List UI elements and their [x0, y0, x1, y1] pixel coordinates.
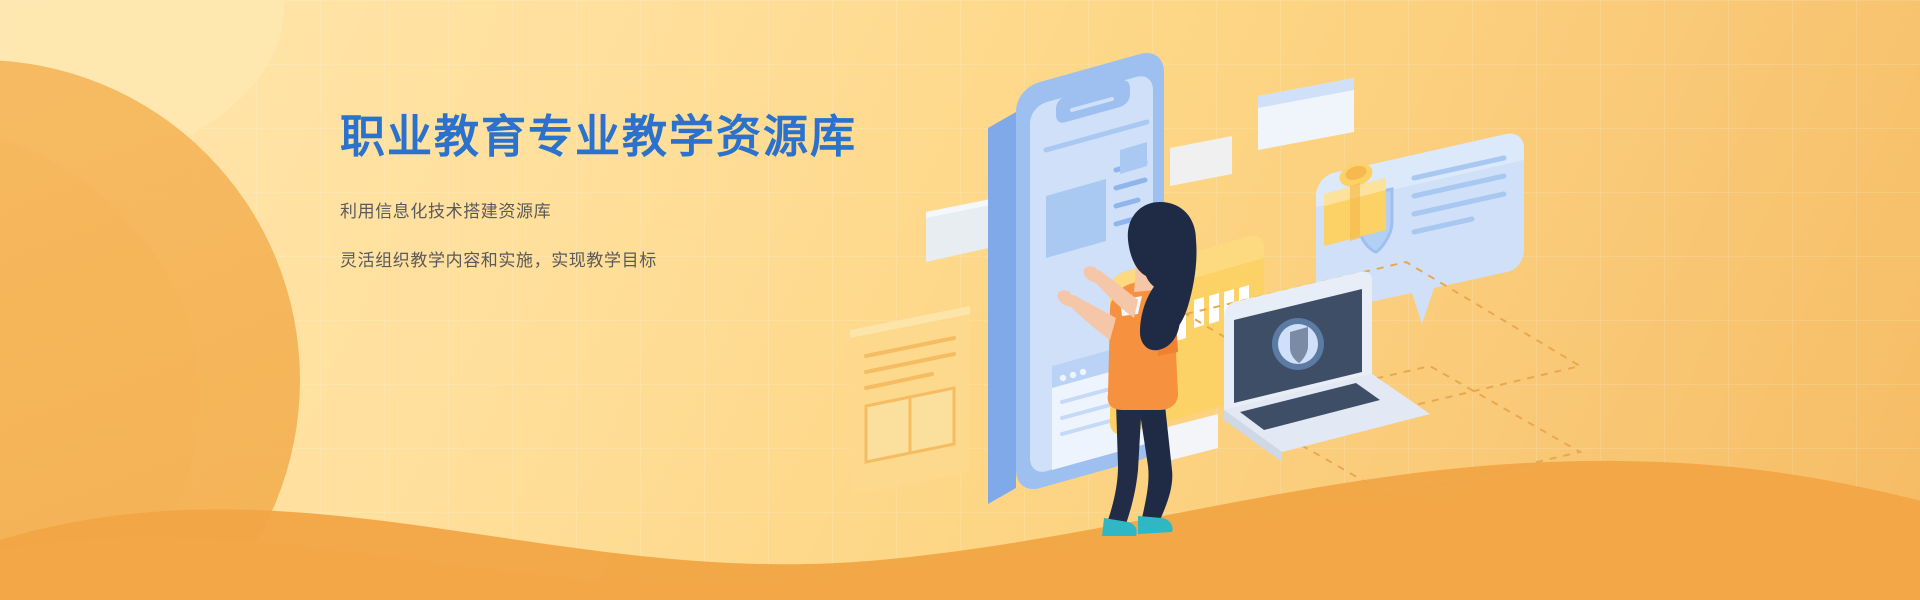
subtitle-line-1: 利用信息化技术搭建资源库 [340, 198, 900, 225]
banner-copy: 职业教育专业教学资源库 利用信息化技术搭建资源库 灵活组织教学内容和实施，实现教… [340, 110, 900, 274]
floating-card-top [1258, 78, 1354, 150]
document-card-bottom-left [850, 306, 970, 496]
subtitle-line-2: 灵活组织教学内容和实施，实现教学目标 [340, 247, 900, 274]
hero-illustration [820, 0, 1920, 600]
laptop-shield-icon [1272, 318, 1324, 370]
hero-banner: 职业教育专业教学资源库 利用信息化技术搭建资源库 灵活组织教学内容和实施，实现教… [0, 0, 1920, 600]
floating-tag-small [1170, 136, 1232, 186]
page-title: 职业教育专业教学资源库 [340, 110, 900, 164]
laptop-shield [1224, 271, 1430, 462]
